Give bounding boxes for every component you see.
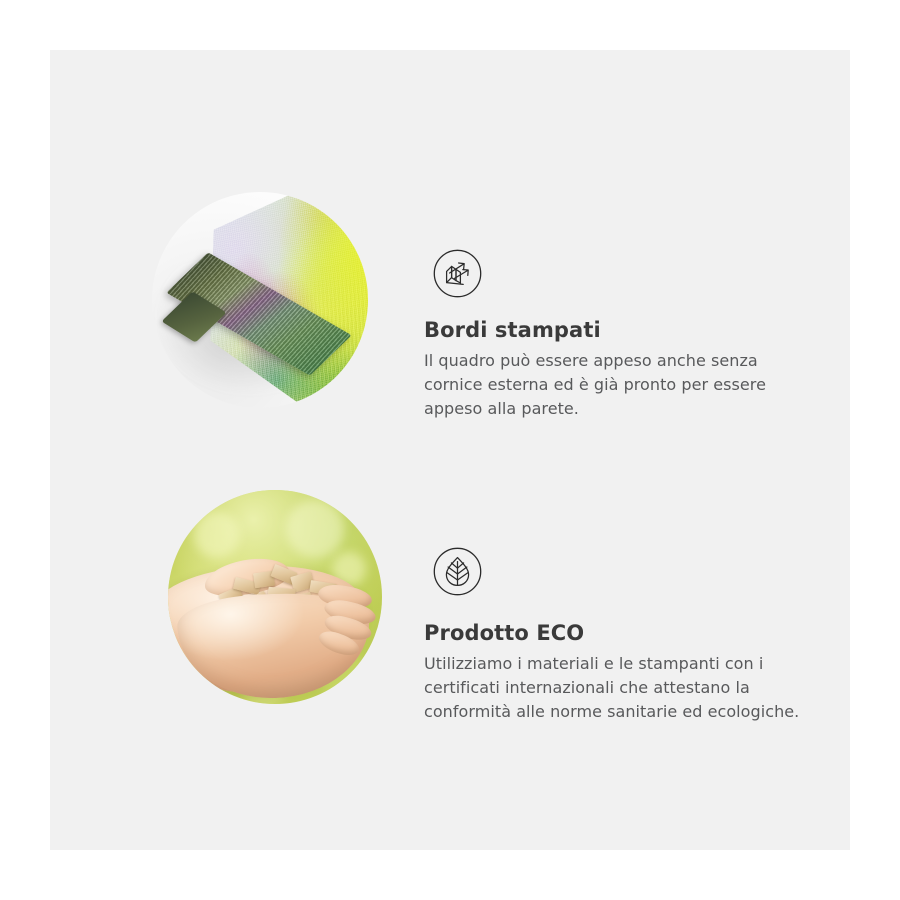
printed-edges-text: Bordi stampati Il quadro può essere appe…	[424, 317, 816, 421]
feature-heading: Bordi stampati	[424, 317, 816, 343]
eco-product-text: Prodotto ECO Utilizziamo i materiali e l…	[424, 620, 816, 724]
bokeh-light	[286, 500, 344, 558]
leaf-icon	[433, 547, 482, 596]
product-feature-graphic: Bordi stampati Il quadro può essere appe…	[0, 0, 900, 900]
eco-wood-chips-photo	[168, 490, 382, 704]
canvas-photo-background	[152, 192, 368, 408]
bokeh-light	[194, 512, 240, 558]
eco-photo-background	[168, 490, 382, 704]
canvas-corner-photo	[152, 192, 368, 408]
feature-body: Il quadro può essere appeso anche senza …	[424, 349, 816, 421]
feature-body: Utilizziamo i materiali e le stampanti c…	[424, 652, 816, 724]
content-panel: Bordi stampati Il quadro può essere appe…	[50, 50, 850, 850]
feature-heading: Prodotto ECO	[424, 620, 816, 646]
printed-edges-icon	[433, 249, 482, 298]
